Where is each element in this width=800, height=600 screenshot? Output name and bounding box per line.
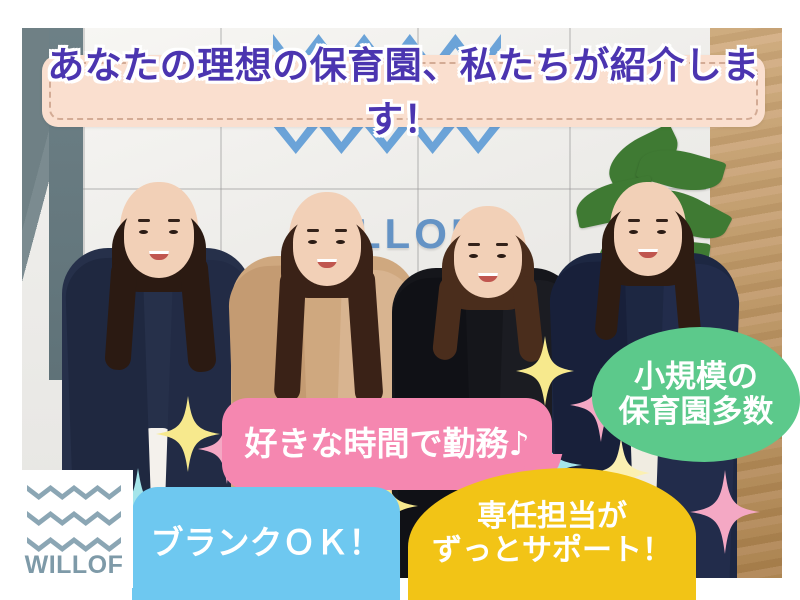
chevron-zigzag-icon: [27, 484, 121, 500]
bubble-green-line-1: 小規模の: [634, 359, 758, 395]
bubble-green-line-2: 保育園多数: [619, 394, 774, 430]
willof-wordmark: WILLOF: [15, 551, 133, 580]
bubble-blue-text: ブランクＯＫ！: [151, 525, 382, 562]
headline-text: あなたの理想の保育園、私たちが紹介します！: [42, 35, 765, 143]
sparkle-pink-icon: [690, 470, 760, 554]
bubble-green-text: 小規模の 保育園多数: [619, 360, 774, 429]
bubble-yellow-line-1: 専任担当が: [477, 499, 627, 534]
bubble-small-nurseries: 小規模の 保育園多数: [592, 327, 800, 462]
chevron-zigzag-icon: [27, 536, 121, 552]
willof-logo-card: WILLOF: [15, 470, 133, 588]
chevron-zigzag-icon: [27, 510, 121, 526]
headline-banner: あなたの理想の保育園、私たちが紹介します！: [42, 55, 765, 127]
bubble-pink-text: 好きな時間で勤務♪: [244, 426, 529, 463]
bubble-blank-ok: ブランクＯＫ！: [132, 487, 400, 600]
advertisement-canvas: WILLOF: [0, 0, 800, 600]
sparkle-yellow-icon: [516, 336, 574, 406]
bubble-yellow-text: 専任担当が ずっとサポート！: [432, 500, 672, 567]
bubble-yellow-line-2: ずっとサポート！: [432, 533, 672, 568]
